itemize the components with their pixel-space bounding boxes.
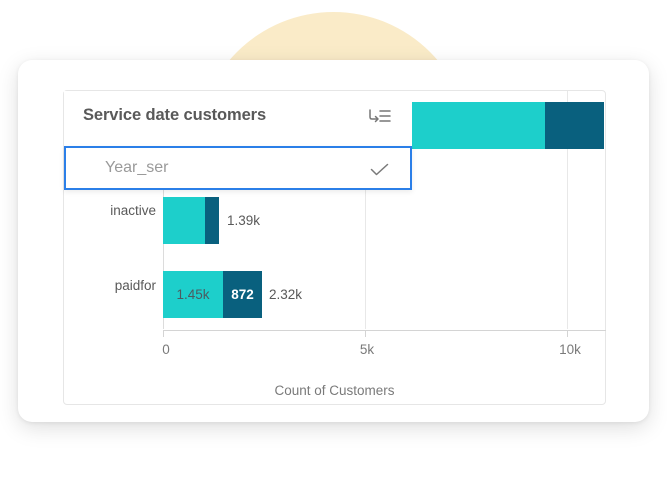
category-label-inactive: inactive [60, 203, 156, 218]
category-label-paidfor: paidfor [60, 278, 156, 293]
x-tick-mark-10k [567, 330, 568, 337]
x-axis-line [163, 330, 606, 331]
x-tick-mark-5k [365, 330, 366, 337]
sort-indent-icon[interactable] [368, 108, 392, 126]
bar-row-paidfor-light-value-label: 1.45k [172, 271, 214, 318]
bar-row-inactive-segment-dark[interactable] [205, 197, 219, 244]
x-tick-label-10k: 10k [559, 342, 581, 357]
bar-row-paidfor-dark-value-label: 872 [223, 271, 262, 318]
x-axis-title: Count of Customers [64, 383, 605, 398]
x-tick-label-5k: 5k [360, 342, 374, 357]
check-icon [370, 163, 389, 177]
bar-row-inactive-total-label: 1.39k [227, 197, 260, 244]
dropdown-option-label: Year_ser [105, 159, 168, 177]
bar-row-paidfor-total-label: 2.32k [269, 271, 302, 318]
x-tick-label-0: 0 [162, 342, 170, 357]
bar-row-year-ser-segment-dark[interactable] [545, 102, 604, 149]
x-tick-mark-0 [163, 330, 164, 337]
chart-title: Service date customers [83, 106, 266, 125]
bar-row-inactive-segment-light[interactable] [163, 197, 205, 244]
